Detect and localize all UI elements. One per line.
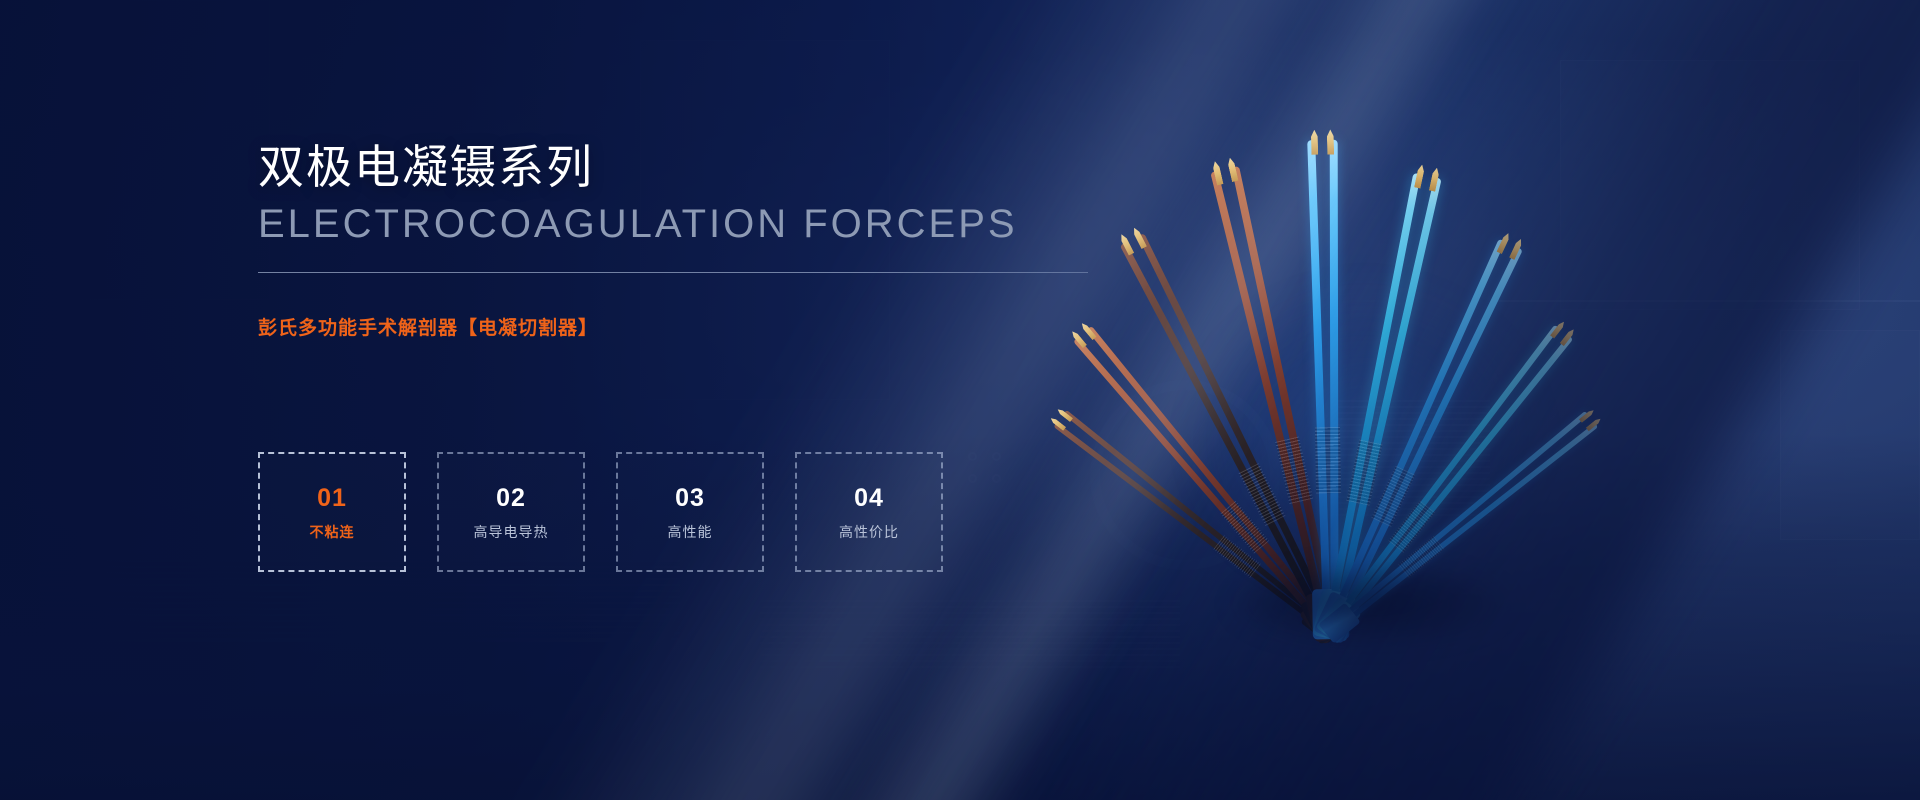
feature-box-03[interactable]: 03 高性能: [616, 452, 764, 572]
feature-number: 01: [317, 486, 347, 511]
product-base-shadow: [1190, 560, 1550, 670]
feature-number: 03: [675, 486, 705, 511]
page-subtitle-en: ELECTROCOAGULATION FORCEPS: [258, 202, 1098, 246]
feature-box-01[interactable]: 01 不粘连: [258, 452, 406, 572]
page-title: 双极电凝镊系列: [258, 140, 1098, 194]
product-banner: 双极电凝镊系列 ELECTROCOAGULATION FORCEPS 彭氏多功能…: [0, 0, 1920, 800]
feature-number: 02: [496, 486, 526, 511]
divider: [258, 272, 1088, 273]
feature-label: 不粘连: [310, 525, 355, 539]
feature-number: 04: [854, 486, 884, 511]
forceps-fan-image: [1070, 70, 1630, 630]
feature-label: 高导电导热: [474, 525, 549, 539]
feature-box-04[interactable]: 04 高性价比: [795, 452, 943, 572]
product-tagline: 彭氏多功能手术解剖器【电凝切割器】: [258, 313, 1098, 340]
feature-list: 01 不粘连 02 高导电导热 03 高性能 04 高性价比: [258, 452, 943, 572]
feature-label: 高性价比: [839, 525, 899, 539]
feature-box-02[interactable]: 02 高导电导热: [437, 452, 585, 572]
feature-label: 高性能: [668, 525, 713, 539]
banner-copy: 双极电凝镊系列 ELECTROCOAGULATION FORCEPS 彭氏多功能…: [258, 140, 1098, 340]
